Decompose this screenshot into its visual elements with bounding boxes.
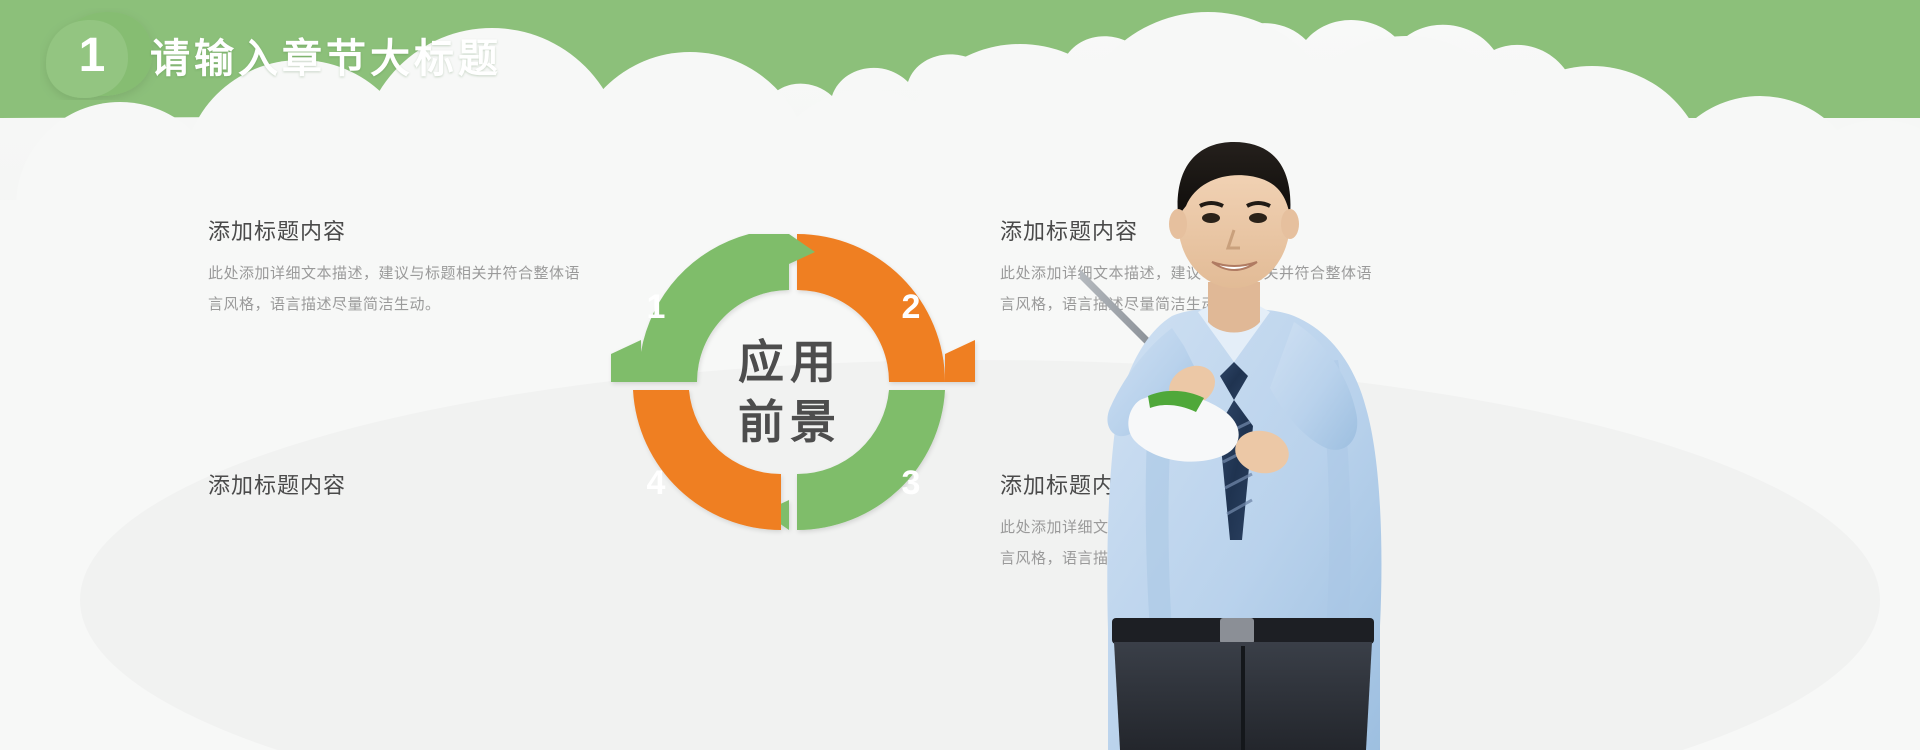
center-label-line2: 前景 xyxy=(690,392,890,452)
segment-number-2: 2 xyxy=(891,288,931,327)
chapter-number: 1 xyxy=(62,28,122,84)
cycle-diagram[interactable]: 1 2 3 4 应用 前景 xyxy=(553,212,1025,552)
text-block-top-left[interactable]: 添加标题内容 此处添加详细文本描述，建议与标题相关并符合整体语言风格，语言描述尽… xyxy=(208,214,580,320)
chapter-title: 请输入章节大标题 xyxy=(150,26,502,84)
block-body: 此处添加详细文本描述，建议与标题相关并符合整体语言风格，语言描述尽量简洁生动。 xyxy=(208,258,580,320)
diagram-center-label: 应用 前景 xyxy=(690,332,890,452)
slide-header: 1 请输入章节大标题 xyxy=(0,0,1920,118)
center-label-line1: 应用 xyxy=(690,332,890,392)
presenter-photo xyxy=(1080,70,1500,750)
block-title: 添加标题内容 xyxy=(208,468,580,500)
slide-canvas: 1 请输入章节大标题 添加标题内容 此处添加详细文本描述，建议与标题相关并符合整… xyxy=(0,0,1920,750)
block-title: 添加标题内容 xyxy=(208,214,580,246)
text-block-bottom-left[interactable]: 添加标题内容 xyxy=(208,468,580,512)
segment-number-3: 3 xyxy=(891,464,931,503)
segment-number-1: 1 xyxy=(636,288,676,327)
segment-number-4: 4 xyxy=(636,464,676,503)
